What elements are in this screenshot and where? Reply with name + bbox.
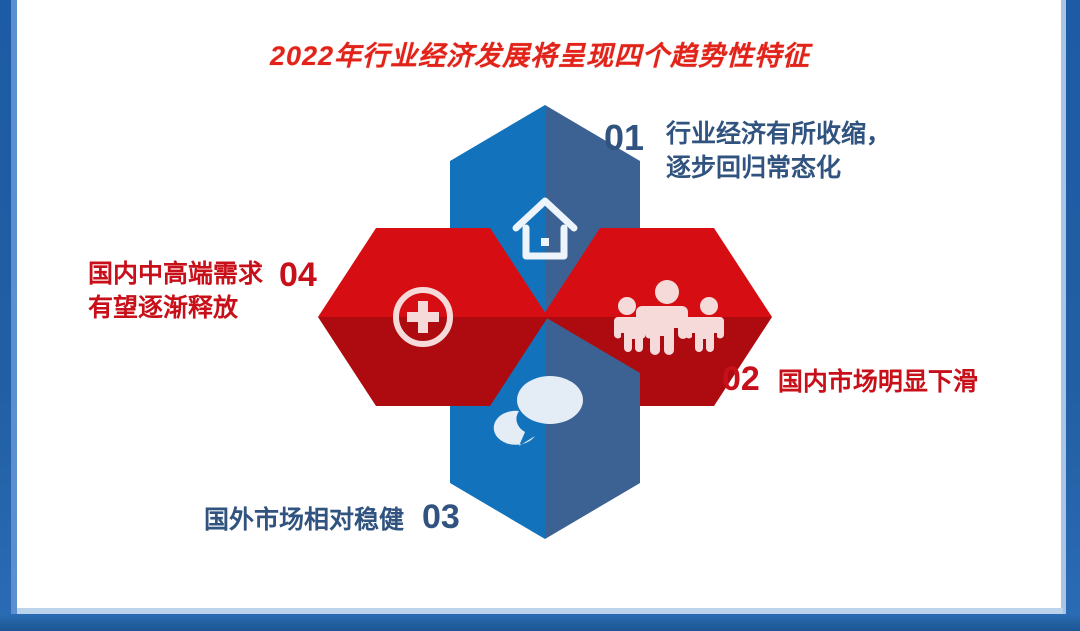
slide-canvas: 2022年行业经济发展将呈现四个趋势性特征 (0, 0, 1080, 631)
item-number-01: 01 (604, 120, 644, 156)
slide-title: 2022年行业经济发展将呈现四个趋势性特征 (0, 34, 1080, 73)
callout-item-03: 国外市场相对稳健 03 (204, 500, 460, 538)
frame-left-inner-stripe (11, 0, 17, 618)
item-number-02: 02 (722, 362, 760, 396)
item-text-04-line1: 国内中高端需求 (88, 260, 263, 288)
item-text-04: 国内中高端需求 有望逐渐释放 (88, 258, 263, 326)
callout-item-01: 01 行业经济有所收缩， 逐步回归常态化 (604, 118, 891, 186)
item-text-01-line2: 逐步回归常态化 (666, 154, 841, 182)
item-number-04: 04 (279, 258, 317, 292)
frame-bottom-stripe (0, 614, 1080, 631)
item-text-03: 国外市场相对稳健 (204, 504, 404, 538)
frame-left-stripe (0, 0, 11, 631)
frame-right-inner-stripe (1061, 0, 1066, 618)
frame-right-stripe (1066, 0, 1080, 631)
item-number-03: 03 (422, 500, 460, 534)
callout-item-04: 国内中高端需求 有望逐渐释放 04 (88, 258, 317, 326)
item-text-01: 行业经济有所收缩， 逐步回归常态化 (666, 118, 891, 186)
item-text-04-line2: 有望逐渐释放 (88, 294, 238, 322)
item-text-02: 国内市场明显下滑 (778, 366, 978, 400)
callout-item-02: 02 国内市场明显下滑 (722, 362, 978, 400)
item-text-01-line1: 行业经济有所收缩， (666, 120, 891, 148)
hexagon-left-04[interactable] (318, 228, 548, 406)
